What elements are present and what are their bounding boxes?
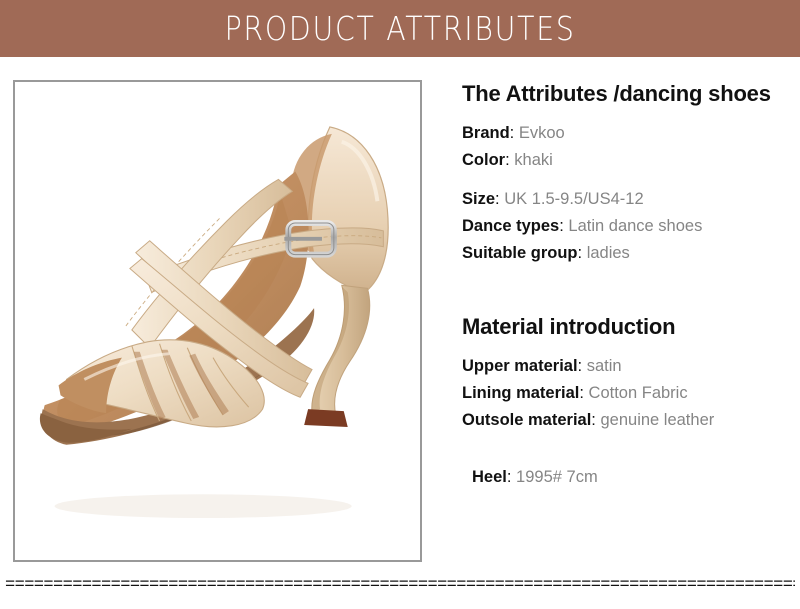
attribute-label-heel: Heel	[472, 468, 507, 486]
attribute-label-brand: Brand	[462, 124, 510, 142]
footer-divider: ========================================…	[5, 578, 795, 594]
attributes-heading: The Attributes /dancing shoes	[462, 80, 792, 108]
shoe-heel	[312, 285, 370, 415]
attributes-group-primary: Brand: Evkoo Color: khaki	[462, 120, 792, 174]
attribute-value-outsole-material: genuine leather	[600, 411, 714, 429]
attribute-row-dance-types: Dance types: Latin dance shoes	[462, 213, 792, 240]
spacer	[462, 434, 792, 464]
attribute-value-dance-types: Latin dance shoes	[568, 217, 702, 235]
attribute-label-upper-material: Upper material	[462, 357, 578, 375]
page-header-banner: PRODUCT ATTRIBUTES	[0, 0, 800, 57]
attribute-value-color: khaki	[514, 151, 553, 169]
attribute-row-size: Size: UK 1.5-9.5/US4-12	[462, 186, 792, 213]
attribute-separator: :	[579, 384, 584, 402]
attribute-separator: :	[578, 244, 583, 262]
attributes-group-secondary: Size: UK 1.5-9.5/US4-12 Dance types: Lat…	[462, 186, 792, 267]
spacer	[462, 174, 792, 186]
attribute-label-color: Color	[462, 151, 505, 169]
attribute-label-size: Size	[462, 190, 495, 208]
attribute-separator: :	[559, 217, 564, 235]
attribute-row-lining-material: Lining material: Cotton Fabric	[462, 380, 792, 407]
attribute-row-outsole-material: Outsole material: genuine leather	[462, 407, 792, 434]
dance-shoe-illustration	[15, 82, 420, 560]
spacer	[462, 341, 792, 353]
attribute-value-upper-material: satin	[587, 357, 622, 375]
attribute-value-suitable-group: ladies	[587, 244, 630, 262]
attribute-value-brand: Evkoo	[519, 124, 565, 142]
attribute-label-suitable-group: Suitable group	[462, 244, 578, 262]
attribute-separator: :	[507, 468, 512, 486]
attribute-separator: :	[505, 151, 510, 169]
attribute-value-size: UK 1.5-9.5/US4-12	[504, 190, 643, 208]
attribute-row-suitable-group: Suitable group: ladies	[462, 240, 792, 267]
spacer	[462, 267, 792, 313]
attribute-row-upper-material: Upper material: satin	[462, 353, 792, 380]
product-image-frame	[13, 80, 422, 562]
shoe-shadow	[55, 494, 352, 518]
product-attributes-panel: The Attributes /dancing shoes Brand: Evk…	[462, 80, 792, 491]
attribute-separator: :	[591, 411, 596, 429]
attribute-separator: :	[495, 190, 500, 208]
material-heading: Material introduction	[462, 313, 792, 341]
attribute-value-heel: 1995# 7cm	[516, 468, 598, 486]
attribute-separator: :	[510, 124, 515, 142]
shoe-heel-tip	[304, 409, 348, 427]
material-group: Upper material: satin Lining material: C…	[462, 353, 792, 434]
attribute-separator: :	[578, 357, 583, 375]
attribute-row-brand: Brand: Evkoo	[462, 120, 792, 147]
spacer	[462, 108, 792, 120]
attribute-row-heel: Heel: 1995# 7cm	[462, 464, 792, 491]
attribute-label-lining-material: Lining material	[462, 384, 579, 402]
attribute-label-outsole-material: Outsole material	[462, 411, 591, 429]
attribute-row-color: Color: khaki	[462, 147, 792, 174]
page-title: PRODUCT ATTRIBUTES	[224, 9, 575, 48]
attribute-value-lining-material: Cotton Fabric	[589, 384, 688, 402]
attribute-label-dance-types: Dance types	[462, 217, 559, 235]
